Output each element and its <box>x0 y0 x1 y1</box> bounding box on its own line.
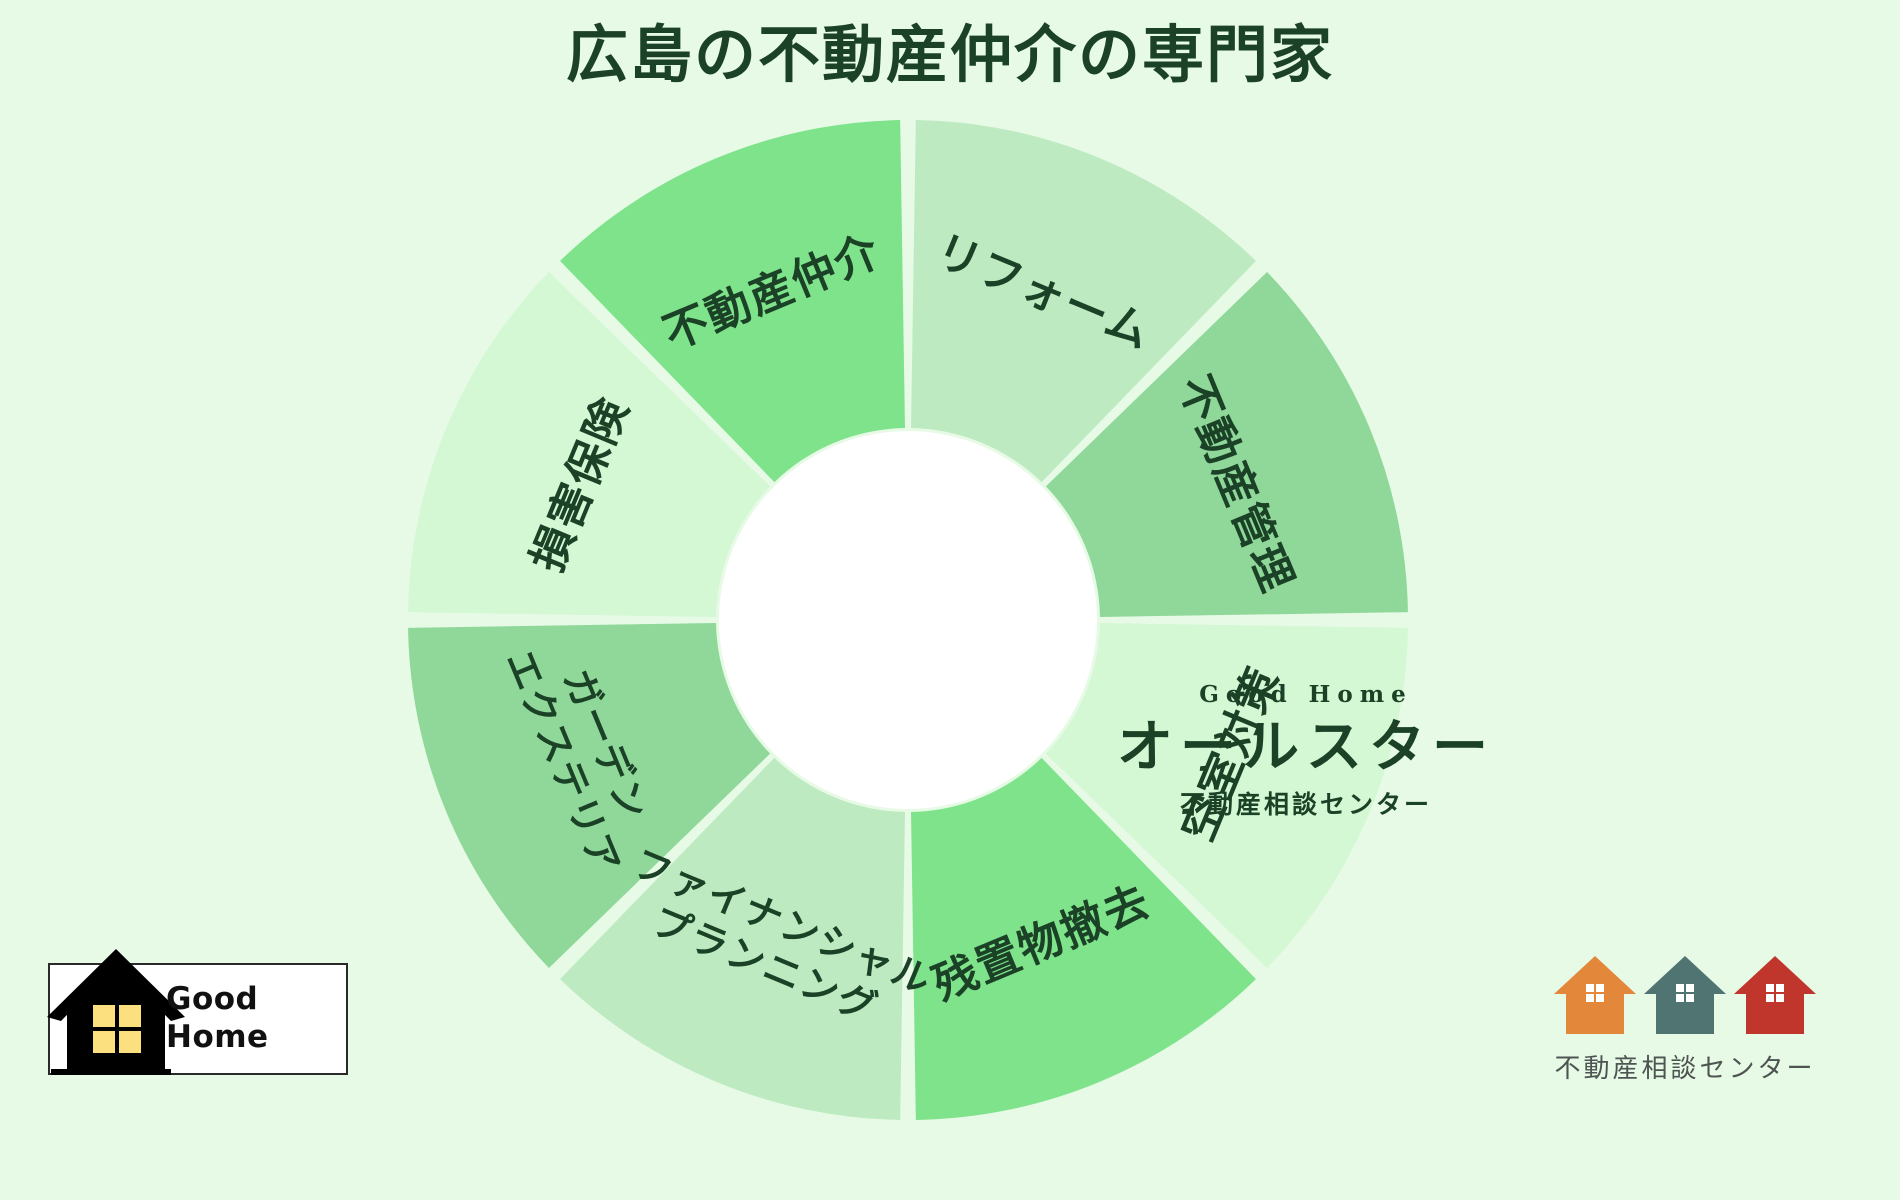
house-red <box>1734 956 1816 1034</box>
brand-line-2: Home <box>166 1019 269 1057</box>
services-wheel: リフォーム不動産管理空室対策残置物撤去ファイナンシャルプランニングガーデンエクス… <box>398 110 1418 1130</box>
consultation-center-caption: 不動産相談センター <box>1520 1048 1850 1085</box>
brand-line-1: Good <box>166 981 269 1019</box>
house-orange <box>1554 956 1636 1034</box>
good-home-logo-text: Good Home <box>166 981 269 1057</box>
house-teal <box>1644 956 1726 1034</box>
good-home-logo: Good Home <box>48 963 348 1075</box>
wheel-hub-circle <box>719 431 1097 809</box>
consultation-center-logo: 不動産相談センター <box>1520 950 1850 1085</box>
wheel-svg: リフォーム不動産管理空室対策残置物撤去ファイナンシャルプランニングガーデンエクス… <box>398 110 1418 1130</box>
three-houses-icon <box>1550 950 1820 1045</box>
page-title: 広島の不動産仲介の専門家 <box>0 4 1900 94</box>
